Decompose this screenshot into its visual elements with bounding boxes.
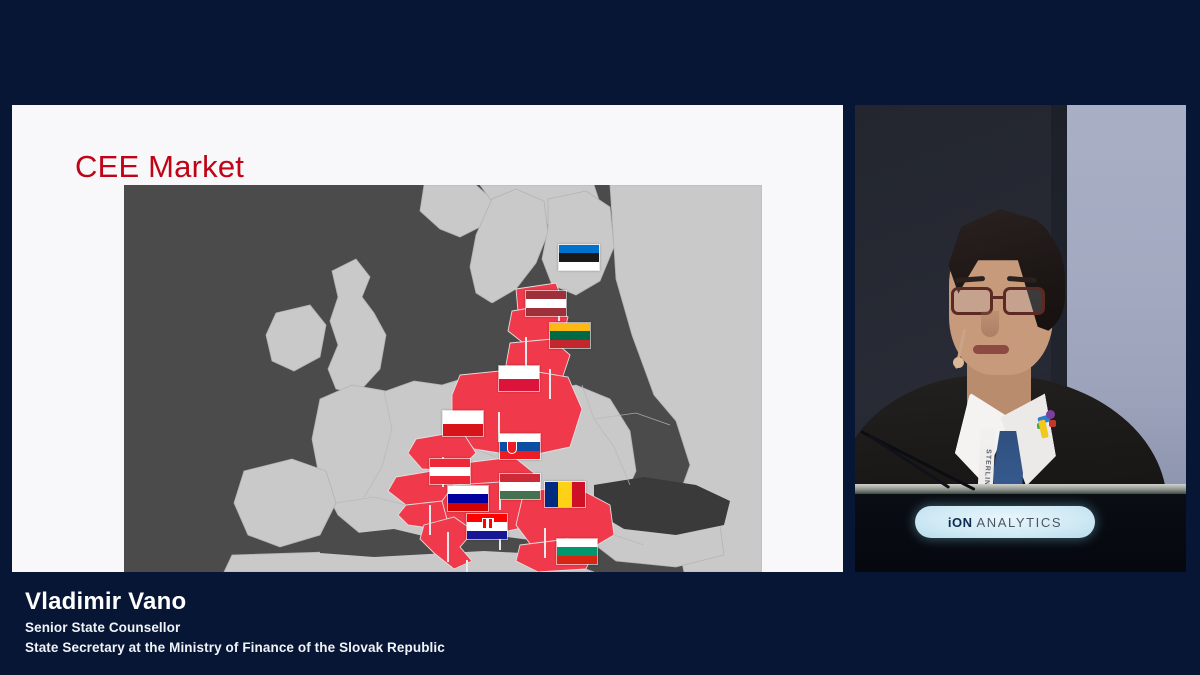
ion-logo-word: ANALYTICS [976,515,1062,530]
flag-band [430,467,470,475]
flag-pole [466,560,468,572]
flag-slovenia-icon [447,485,489,512]
flag-band [500,491,540,499]
flag-band [443,424,483,437]
speaker-mouth [973,345,1009,354]
flag-lithuania-icon [549,322,591,349]
flag-pole [429,505,431,535]
speaker-organization: State Secretary at the Ministry of Finan… [25,640,445,655]
headset-mic-icon [953,357,964,368]
flag-band [550,331,590,339]
lower-third: Vladimir Vano Senior State Counsellor St… [0,580,1200,675]
flag-band [557,556,597,564]
eyeglasses-icon [949,287,1053,317]
flag-band [500,451,540,459]
flag-band [559,262,599,270]
podium-logo-plate: iON ANALYTICS [915,506,1095,538]
ion-analytics-logo: iON ANALYTICS [948,515,1062,530]
flag-band [430,459,470,467]
flag-band [526,291,566,299]
flag-band [448,486,488,494]
flag-band [448,494,488,502]
flag-austria-icon [429,458,471,485]
speaker-video-feed[interactable]: STERLING iON [855,105,1186,572]
flag-band [443,411,483,424]
flag-band [557,539,597,547]
europe-map [124,185,762,572]
presentation-slide[interactable]: CEE Market [12,105,843,572]
flag-band [526,308,566,316]
flag-pole [525,337,527,367]
flag-croatia-icon [466,513,508,540]
flag-slovakia-icon [499,433,541,460]
slide-title: CEE Market [75,149,244,185]
flag-band [559,253,599,261]
flag-pole [544,528,546,558]
flag-band [557,547,597,555]
croatia-checkerboard-icon [482,518,494,529]
flag-poland-icon [498,365,540,392]
lapel-pin-icon [1037,409,1056,440]
flag-czech-republic-icon [442,410,484,437]
flag-band [500,442,540,450]
flag-hungary-icon [499,473,541,500]
flag-band [500,474,540,482]
flag-band [572,482,585,507]
flag-pole [549,369,551,399]
flag-band [500,434,540,442]
flag-band [467,531,507,539]
flag-band [526,299,566,307]
flag-band [500,482,540,490]
broadcast-stage: CEE Market [0,0,1200,675]
podium: iON ANALYTICS [855,492,1186,572]
flag-pole [447,532,449,562]
speaker-nose [981,311,999,337]
flag-band [559,245,599,253]
flag-latvia-icon [525,290,567,317]
flag-estonia-icon [558,244,600,271]
flag-band [545,482,558,507]
flag-band [448,503,488,511]
flag-bulgaria-icon [556,538,598,565]
flag-band [558,482,571,507]
flag-band [499,379,539,392]
ion-logo-mark: iON [948,515,973,530]
speaker-name: Vladimir Vano [25,588,186,616]
flag-band [430,476,470,484]
podium-microphone-icon [861,430,981,492]
flag-band [550,340,590,348]
flag-romania-icon [544,481,586,508]
speaker-role: Senior State Counsellor [25,620,180,635]
flag-band [550,323,590,331]
flag-band [499,366,539,379]
slovakia-coat-of-arms-icon [507,441,517,454]
europe-map-svg [124,185,762,572]
